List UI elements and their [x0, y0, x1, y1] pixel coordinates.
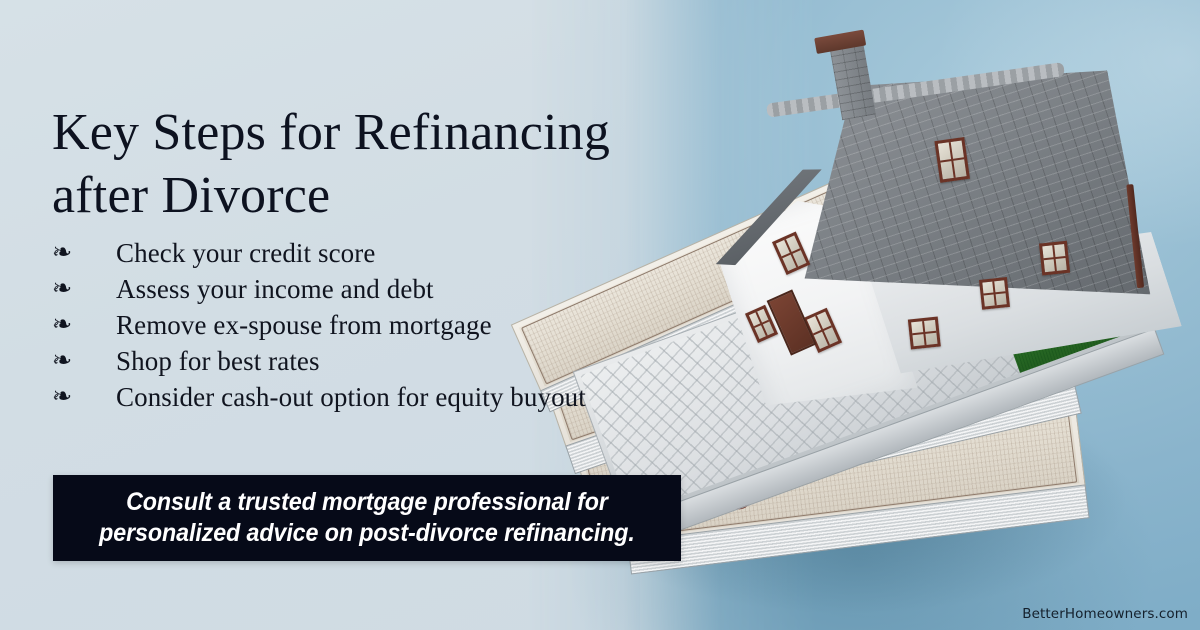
- list-item: ❧ Consider cash-out option for equity bu…: [52, 382, 672, 418]
- roof-window: [934, 137, 970, 183]
- fleuron-ornament-icon: ❧: [52, 313, 116, 337]
- fleuron-ornament-icon: ❧: [52, 241, 116, 265]
- list-item-label: Check your credit score: [116, 238, 375, 269]
- fleuron-ornament-icon: ❧: [52, 277, 116, 301]
- callout-text: Consult a trusted mortgage professional …: [99, 487, 635, 549]
- brand-credit: BetterHomeowners.com: [1022, 606, 1188, 622]
- list-item-label: Consider cash-out option for equity buyo…: [116, 382, 586, 413]
- list-item: ❧ Remove ex-spouse from mortgage: [52, 310, 672, 346]
- list-item: ❧ Shop for best rates: [52, 346, 672, 382]
- miniature-house-photo: [600, 20, 1200, 520]
- list-item-label: Assess your income and debt: [116, 274, 434, 305]
- key-steps-list: ❧ Check your credit score ❧ Assess your …: [52, 238, 672, 418]
- list-item-label: Shop for best rates: [116, 346, 320, 377]
- infographic-canvas: 100 100 44440078L 100 44440078L 100 4444…: [0, 0, 1200, 630]
- page-title: Key Steps for Refinancing after Divorce: [52, 101, 652, 227]
- front-window-1: [908, 317, 941, 350]
- list-item-label: Remove ex-spouse from mortgage: [116, 310, 492, 341]
- list-item: ❧ Assess your income and debt: [52, 274, 672, 310]
- fleuron-ornament-icon: ❧: [52, 385, 116, 409]
- front-window-3: [1039, 241, 1070, 276]
- callout-banner: Consult a trusted mortgage professional …: [53, 475, 681, 561]
- front-window-2: [979, 277, 1010, 310]
- list-item: ❧ Check your credit score: [52, 238, 672, 274]
- fleuron-ornament-icon: ❧: [52, 349, 116, 373]
